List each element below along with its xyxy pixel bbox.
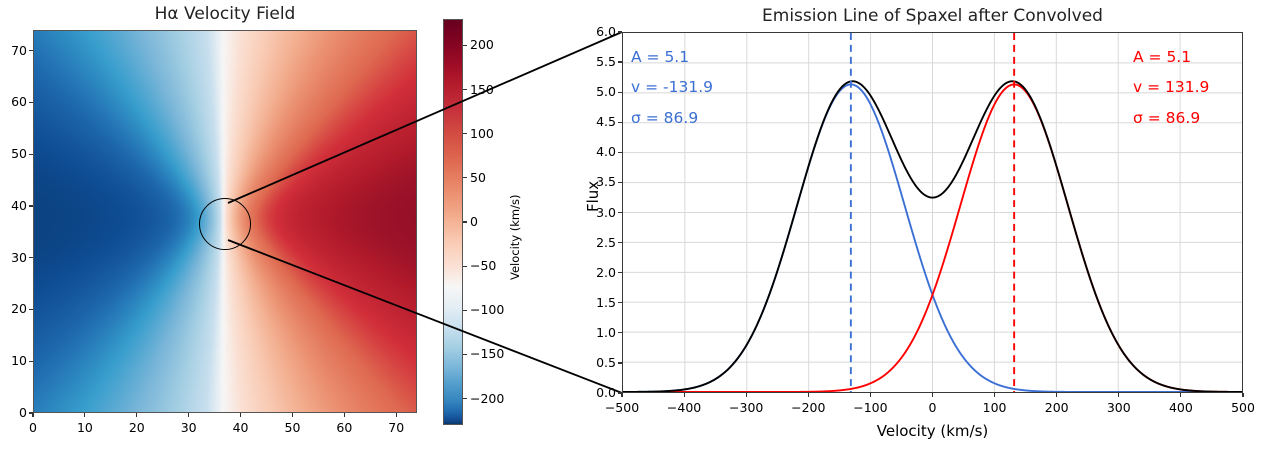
plot-x-tick-label: 300 — [1097, 400, 1141, 415]
plot-y-tick-label: 5.5 — [584, 54, 616, 69]
colorbar-tick — [463, 89, 467, 90]
plot-x-tick — [932, 393, 933, 397]
plot-y-tick-label: 4.0 — [584, 144, 616, 159]
heatmap-x-tick — [344, 413, 345, 417]
red-annotation-amplitude: A = 5.1 — [1133, 50, 1191, 66]
plot-y-tick — [618, 302, 622, 303]
heatmap-y-tick — [29, 257, 33, 258]
heatmap-y-tick — [29, 50, 33, 51]
plot-y-tick-label: 4.5 — [584, 114, 616, 129]
heatmap-x-tick-label: 40 — [227, 420, 255, 435]
plot-y-axis-label: Flux — [584, 181, 602, 212]
plot-y-tick — [618, 152, 622, 153]
colorbar-tick — [463, 221, 467, 222]
plot-x-tick — [1242, 393, 1243, 397]
heatmap-x-tick — [32, 413, 33, 417]
right-panel-title: Emission Line of Spaxel after Convolved — [622, 6, 1243, 26]
plot-x-tick — [1180, 393, 1181, 397]
plot-x-tick-label: 100 — [973, 400, 1017, 415]
plot-y-tick — [618, 212, 622, 213]
colorbar-tick — [463, 266, 467, 267]
heatmap-x-tick-label: 70 — [382, 420, 410, 435]
heatmap-x-tick-label: 30 — [175, 420, 203, 435]
plot-y-tick-label: 2.5 — [584, 235, 616, 250]
plot-y-tick — [618, 182, 622, 183]
plot-y-tick — [618, 31, 622, 32]
colorbar-tick-label: 50 — [470, 170, 486, 185]
colorbar-tick — [463, 45, 467, 46]
plot-x-tick — [684, 393, 685, 397]
colorbar-tick-label: 0 — [470, 214, 478, 229]
plot-y-tick-label: 5.0 — [584, 84, 616, 99]
colorbar-axis-label: Velocity (km/s) — [508, 195, 522, 280]
plot-x-tick — [870, 393, 871, 397]
plot-x-tick-label: 0 — [911, 400, 955, 415]
blue-annotation-amplitude: A = 5.1 — [631, 50, 689, 66]
heatmap-y-tick-label: 30 — [0, 250, 27, 265]
plot-x-tick — [746, 393, 747, 397]
heatmap-y-tick-label: 20 — [0, 301, 27, 316]
blue-annotation-sigma: σ = 86.9 — [631, 111, 698, 127]
plot-x-tick — [1118, 393, 1119, 397]
heatmap-y-tick — [29, 412, 33, 413]
plot-y-tick-label: 1.0 — [584, 325, 616, 340]
heatmap-x-tick-label: 50 — [278, 420, 306, 435]
zoom-region-circle — [199, 198, 251, 250]
plot-y-tick — [618, 92, 622, 93]
plot-x-tick-label: 400 — [1159, 400, 1203, 415]
red-annotation-sigma: σ = 86.9 — [1133, 111, 1200, 127]
colorbar-tick — [463, 310, 467, 311]
heatmap-y-tick — [29, 361, 33, 362]
plot-x-tick-label: −300 — [724, 400, 768, 415]
plot-y-tick — [618, 272, 622, 273]
heatmap-y-tick-label: 10 — [0, 353, 27, 368]
plot-x-tick-label: −100 — [848, 400, 892, 415]
heatmap-x-tick — [292, 413, 293, 417]
heatmap-y-tick-label: 60 — [0, 94, 27, 109]
heatmap-x-tick — [136, 413, 137, 417]
plot-x-tick — [621, 393, 622, 397]
plot-x-tick-label: −200 — [786, 400, 830, 415]
colorbar-tick-label: −150 — [470, 346, 504, 361]
plot-x-tick-label: 500 — [1221, 400, 1265, 415]
plot-x-tick-label: −400 — [662, 400, 706, 415]
colorbar-tick-label: 150 — [470, 82, 494, 97]
heatmap-x-tick-label: 60 — [330, 420, 358, 435]
heatmap-y-tick — [29, 309, 33, 310]
figure-canvas: Hα Velocity Field 010203040506070 010203… — [0, 0, 1268, 450]
plot-y-tick — [618, 392, 622, 393]
colorbar-tick — [463, 133, 467, 134]
colorbar-tick — [463, 398, 467, 399]
plot-y-tick — [618, 122, 622, 123]
heatmap-x-tick — [84, 413, 85, 417]
plot-y-tick-label: 2.0 — [584, 265, 616, 280]
blue-annotation-velocity: v = -131.9 — [631, 80, 713, 96]
heatmap-y-tick — [29, 154, 33, 155]
colorbar-tick — [463, 177, 467, 178]
plot-y-tick-label: 0.0 — [584, 385, 616, 400]
heatmap-y-tick-label: 40 — [0, 198, 27, 213]
plot-x-tick — [808, 393, 809, 397]
plot-x-tick-label: −500 — [600, 400, 644, 415]
heatmap-y-tick — [29, 102, 33, 103]
plot-y-tick-label: 6.0 — [584, 24, 616, 39]
plot-x-tick — [1056, 393, 1057, 397]
plot-y-tick-label: 0.5 — [584, 355, 616, 370]
plot-y-tick — [618, 362, 622, 363]
heatmap-y-tick-label: 50 — [0, 146, 27, 161]
plot-y-tick — [618, 61, 622, 62]
red-annotation-velocity: v = 131.9 — [1133, 80, 1209, 96]
heatmap-y-tick-label: 0 — [0, 405, 27, 420]
colorbar-tick — [463, 354, 467, 355]
colorbar-tick-label: 100 — [470, 126, 494, 141]
heatmap-y-tick — [29, 205, 33, 206]
plot-x-axis-label: Velocity (km/s) — [622, 422, 1243, 440]
colorbar-tick-label: −200 — [470, 391, 504, 406]
heatmap-x-tick-label: 20 — [123, 420, 151, 435]
colorbar-tick-label: 200 — [470, 37, 494, 52]
heatmap-y-tick-label: 70 — [0, 43, 27, 58]
colorbar-tick-label: −50 — [470, 258, 496, 273]
heatmap-x-tick — [396, 413, 397, 417]
heatmap-x-tick-label: 0 — [19, 420, 47, 435]
heatmap-x-tick-label: 10 — [71, 420, 99, 435]
plot-y-tick — [618, 242, 622, 243]
heatmap-x-tick — [240, 413, 241, 417]
plot-x-tick-label: 200 — [1035, 400, 1079, 415]
left-panel-title: Hα Velocity Field — [33, 4, 417, 24]
velocity-colorbar — [443, 19, 463, 425]
heatmap-x-tick — [188, 413, 189, 417]
colorbar-tick-label: −100 — [470, 302, 504, 317]
plot-x-tick — [994, 393, 995, 397]
plot-y-tick-label: 1.5 — [584, 295, 616, 310]
plot-y-tick — [618, 332, 622, 333]
